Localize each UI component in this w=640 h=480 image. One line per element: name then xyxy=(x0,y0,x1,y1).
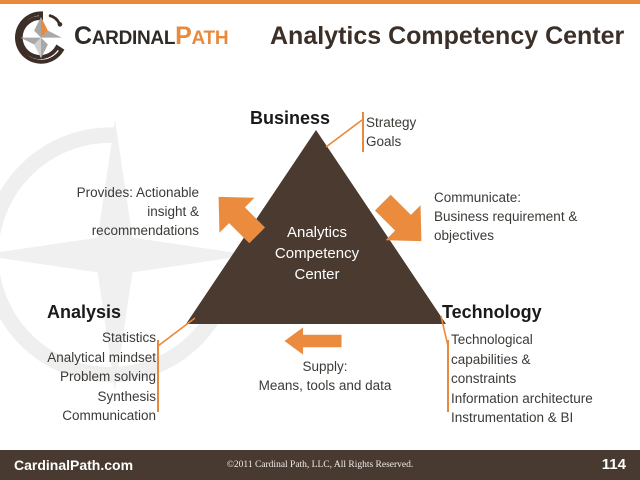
vertex-label-business: Business xyxy=(250,108,330,129)
analysis-item: Problem solving xyxy=(10,367,156,387)
callout-strategy-line-1: Strategy xyxy=(366,113,416,132)
leader-bracket-technology xyxy=(447,340,449,412)
callout-communicate: Communicate: Business requirement & obje… xyxy=(434,188,614,245)
technology-item: Instrumentation & BI xyxy=(451,408,637,428)
analysis-item: Analytical mindset xyxy=(10,348,156,368)
brand-name-part1: ARDINAL xyxy=(92,28,175,49)
leader-bracket-strategy xyxy=(362,112,364,152)
brand-wordmark: CARDINALPATH xyxy=(74,22,228,51)
callout-communicate-line-3: objectives xyxy=(434,226,614,245)
callout-supply: Supply: Means, tools and data xyxy=(230,357,420,395)
leader-bracket-analysis xyxy=(157,340,159,412)
slide-canvas: CARDINALPATH Analytics Competency Center… xyxy=(0,0,640,480)
brand-name-part2-initial: P xyxy=(175,22,191,50)
technology-item: capabilities & xyxy=(451,350,637,370)
compass-rose-icon xyxy=(12,10,70,64)
technology-item: constraints xyxy=(451,369,637,389)
page-title: Analytics Competency Center xyxy=(270,22,624,51)
analysis-item: Statistics xyxy=(10,328,156,348)
center-line-3: Center xyxy=(246,264,388,285)
callout-supply-line-2: Means, tools and data xyxy=(230,376,420,395)
callout-provides-line-3: recommendations xyxy=(47,221,199,240)
analysis-item: Synthesis xyxy=(10,387,156,407)
technology-item: Technological xyxy=(451,330,637,350)
analysis-item-list: Statistics Analytical mindset Problem so… xyxy=(10,328,156,426)
arrow-down-right-icon xyxy=(372,190,434,252)
callout-communicate-line-1: Communicate: xyxy=(434,188,614,207)
technology-item-list: Technological capabilities & constraints… xyxy=(451,330,637,428)
callout-provides-line-1: Provides: Actionable xyxy=(47,183,199,202)
footer-page-number: 114 xyxy=(602,456,626,473)
brand-name-part1-initial: C xyxy=(74,22,92,50)
vertex-label-technology: Technology xyxy=(442,302,542,323)
callout-communicate-line-2: Business requirement & xyxy=(434,207,614,226)
top-accent-bar xyxy=(0,0,640,4)
brand-name-part2: ATH xyxy=(192,28,229,49)
analysis-item: Communication xyxy=(10,406,156,426)
callout-supply-line-1: Supply: xyxy=(230,357,420,376)
callout-strategy-line-2: Goals xyxy=(366,132,416,151)
footer-copyright: ©2011 Cardinal Path, LLC, All Rights Res… xyxy=(0,460,640,470)
vertex-label-analysis: Analysis xyxy=(47,302,121,323)
callout-strategy: Strategy Goals xyxy=(366,113,416,151)
callout-provides: Provides: Actionable insight & recommend… xyxy=(47,183,199,240)
technology-item: Information architecture xyxy=(451,389,637,409)
callout-provides-line-2: insight & xyxy=(47,202,199,221)
arrow-left-icon xyxy=(282,326,344,356)
arrow-up-right-icon xyxy=(206,186,268,248)
